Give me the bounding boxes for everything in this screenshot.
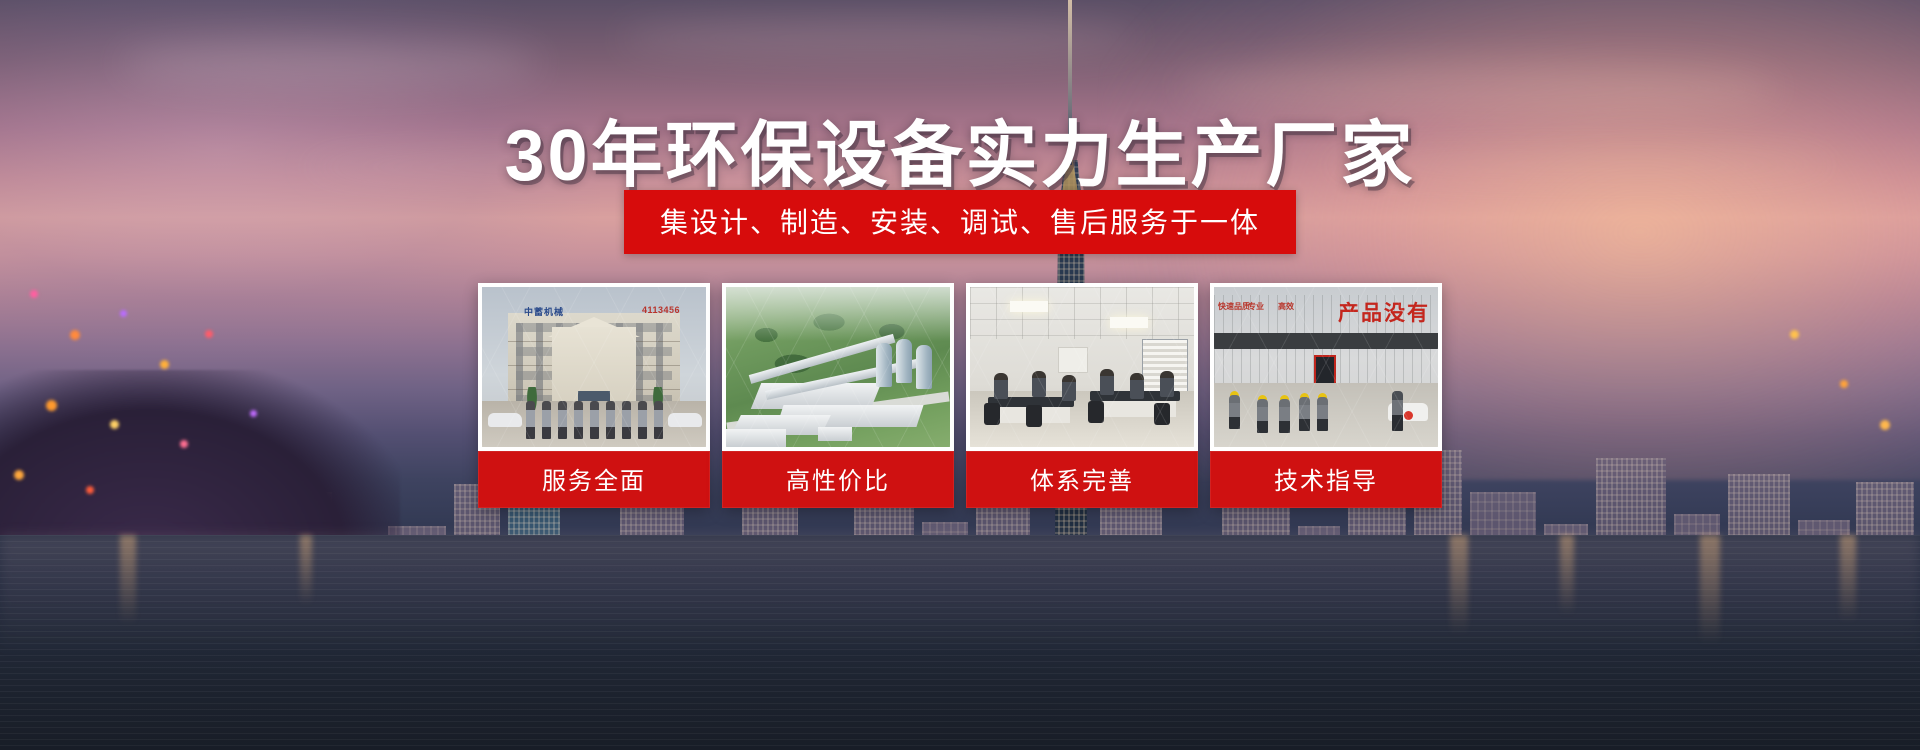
feature-card-system[interactable]: 体系完善 xyxy=(966,283,1198,508)
feature-card-list: 中蓄机械 4113456 xyxy=(478,283,1442,508)
hero-banner: 30年环保设备实力生产厂家 集设计、制造、安装、调试、售后服务于一体 xyxy=(0,0,1920,750)
factory-slogan-1: 快速品质 xyxy=(1218,303,1250,312)
feature-card-guidance[interactable]: 产品没有 快速品质 专业 高效 xyxy=(1210,283,1442,508)
card-photo-plant-aerial xyxy=(726,287,950,447)
card-caption-value: 高性价比 xyxy=(722,451,954,508)
building-sign-text: 中蓄机械 xyxy=(524,305,564,318)
card-caption-system: 体系完善 xyxy=(966,451,1198,508)
factory-slogan-2: 专业 xyxy=(1248,303,1264,312)
card-photo-office-interior xyxy=(970,287,1194,447)
factory-slogan-3: 高效 xyxy=(1278,303,1294,312)
building-phone-text: 4113456 xyxy=(642,305,680,315)
factory-banner-text: 产品没有 xyxy=(1338,297,1430,327)
card-caption-guidance: 技术指导 xyxy=(1210,451,1442,508)
banner-headline: 30年环保设备实力生产厂家 xyxy=(0,96,1920,201)
card-photo-factory-yard: 产品没有 快速品质 专业 高效 xyxy=(1214,287,1438,447)
banner-subtitle-bar: 集设计、制造、安装、调试、售后服务于一体 xyxy=(624,190,1296,254)
feature-card-service[interactable]: 中蓄机械 4113456 xyxy=(478,283,710,508)
card-photo-office-building: 中蓄机械 4113456 xyxy=(482,287,706,447)
card-caption-service: 服务全面 xyxy=(478,451,710,508)
banner-content: 30年环保设备实力生产厂家 集设计、制造、安装、调试、售后服务于一体 xyxy=(0,0,1920,750)
feature-card-value[interactable]: 高性价比 xyxy=(722,283,954,508)
